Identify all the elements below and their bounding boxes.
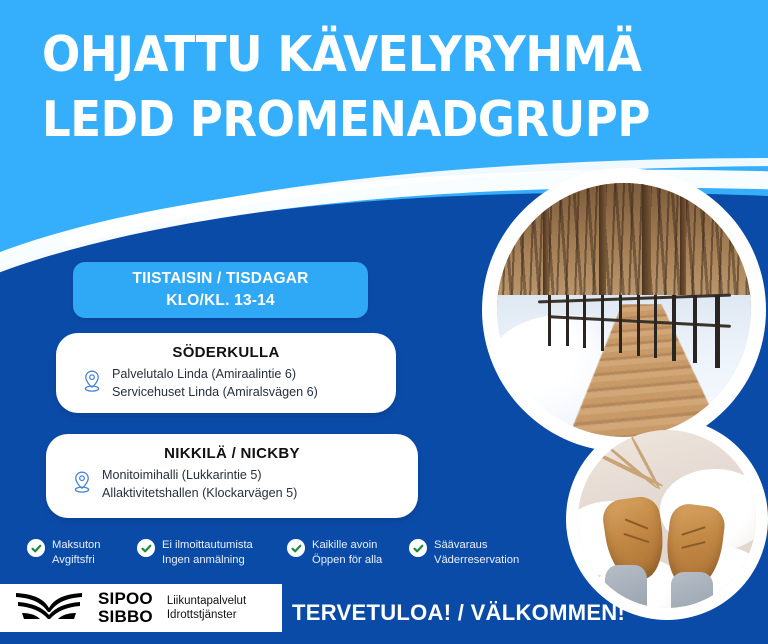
feature-text: Ei ilmoittautumista Ingen anmälning <box>162 538 253 569</box>
logo-name-fi: SIPOO <box>98 590 153 608</box>
feature-text-sv: Väderreservation <box>434 553 519 568</box>
location-addresses: Monitoimihalli (Lukkarintie 5) Allaktivi… <box>102 467 297 503</box>
logo-sub-sv: Idrottstjänster <box>167 608 246 622</box>
location-address-sv: Allaktivitetshallen (Klockarvägen 5) <box>102 485 297 503</box>
logo-sub-fi: Liikuntapalvelut <box>167 594 246 608</box>
feature-text-sv: Avgiftsfri <box>52 553 101 568</box>
title-line-finnish: OHJATTU KÄVELYRYHMÄ <box>42 30 594 79</box>
feature-text-fi: Maksuton <box>52 538 101 553</box>
boots-illustration <box>578 430 756 608</box>
schedule-days: TIISTAISIN / TISDAGAR <box>132 268 308 290</box>
winter-boots-photo <box>578 430 756 608</box>
snowy-boardwalk-photo <box>497 183 751 437</box>
boardwalk-illustration <box>497 183 751 437</box>
location-addresses: Palvelutalo Linda (Amiraalintie 6) Servi… <box>112 366 318 402</box>
location-title: NIKKILÄ / NICKBY <box>46 445 418 462</box>
location-address-fi: Monitoimihalli (Lukkarintie 5) <box>102 467 297 485</box>
feature-list: Maksuton Avgiftsfri Ei ilmoittautumista … <box>27 538 587 569</box>
feature-text-fi: Kaikille avoin <box>312 538 382 553</box>
feature-item: Kaikille avoin Öppen för alla <box>287 538 409 569</box>
sipoo-logo-wordmark: SIPOO SIBBO <box>98 590 153 626</box>
feature-text: Kaikille avoin Öppen för alla <box>312 538 382 569</box>
feature-item: Säävaraus Väderreservation <box>409 538 549 569</box>
feature-text-sv: Öppen för alla <box>312 553 382 568</box>
location-title: SÖDERKULLA <box>56 344 396 361</box>
poster-title: OHJATTU KÄVELYRYHMÄ LEDD PROMENADGRUPP <box>42 30 642 144</box>
location-address-fi: Palvelutalo Linda (Amiraalintie 6) <box>112 366 318 384</box>
check-circle-icon <box>287 539 305 557</box>
sipoo-logo-block: SIPOO SIBBO Liikuntapalvelut Idrottstjän… <box>0 584 282 632</box>
location-card-soderkulla: SÖDERKULLA Palvelutalo Linda (Amiraalint… <box>56 333 396 413</box>
check-circle-icon <box>27 539 45 557</box>
sipoo-wave-logo-icon <box>14 589 84 628</box>
location-pin-icon <box>82 369 102 398</box>
feature-text-sv: Ingen anmälning <box>162 553 253 568</box>
feature-item: Maksuton Avgiftsfri <box>27 538 137 569</box>
welcome-message: TERVETULOA! / VÄLKOMMEN! <box>292 600 625 626</box>
location-address-sv: Servicehuset Linda (Amiralsvägen 6) <box>112 384 318 402</box>
location-card-nikkila: NIKKILÄ / NICKBY Monitoimihalli (Lukkari… <box>46 434 418 518</box>
feature-text-fi: Säävaraus <box>434 538 519 553</box>
title-line-swedish: LEDD PROMENADGRUPP <box>42 95 594 144</box>
check-circle-icon <box>137 539 155 557</box>
feature-text-fi: Ei ilmoittautumista <box>162 538 253 553</box>
location-pin-icon <box>72 470 92 499</box>
feature-item: Ei ilmoittautumista Ingen anmälning <box>137 538 287 569</box>
feature-text: Maksuton Avgiftsfri <box>52 538 101 569</box>
logo-name-sv: SIBBO <box>98 608 153 626</box>
feature-text: Säävaraus Väderreservation <box>434 538 519 569</box>
poster: OHJATTU KÄVELYRYHMÄ LEDD PROMENADGRUPP <box>0 0 768 644</box>
schedule-card: TIISTAISIN / TISDAGAR KLO/KL. 13-14 <box>73 262 368 318</box>
check-circle-icon <box>409 539 427 557</box>
sipoo-logo-subtitle: Liikuntapalvelut Idrottstjänster <box>167 594 246 622</box>
schedule-time: KLO/KL. 13-14 <box>166 290 275 312</box>
